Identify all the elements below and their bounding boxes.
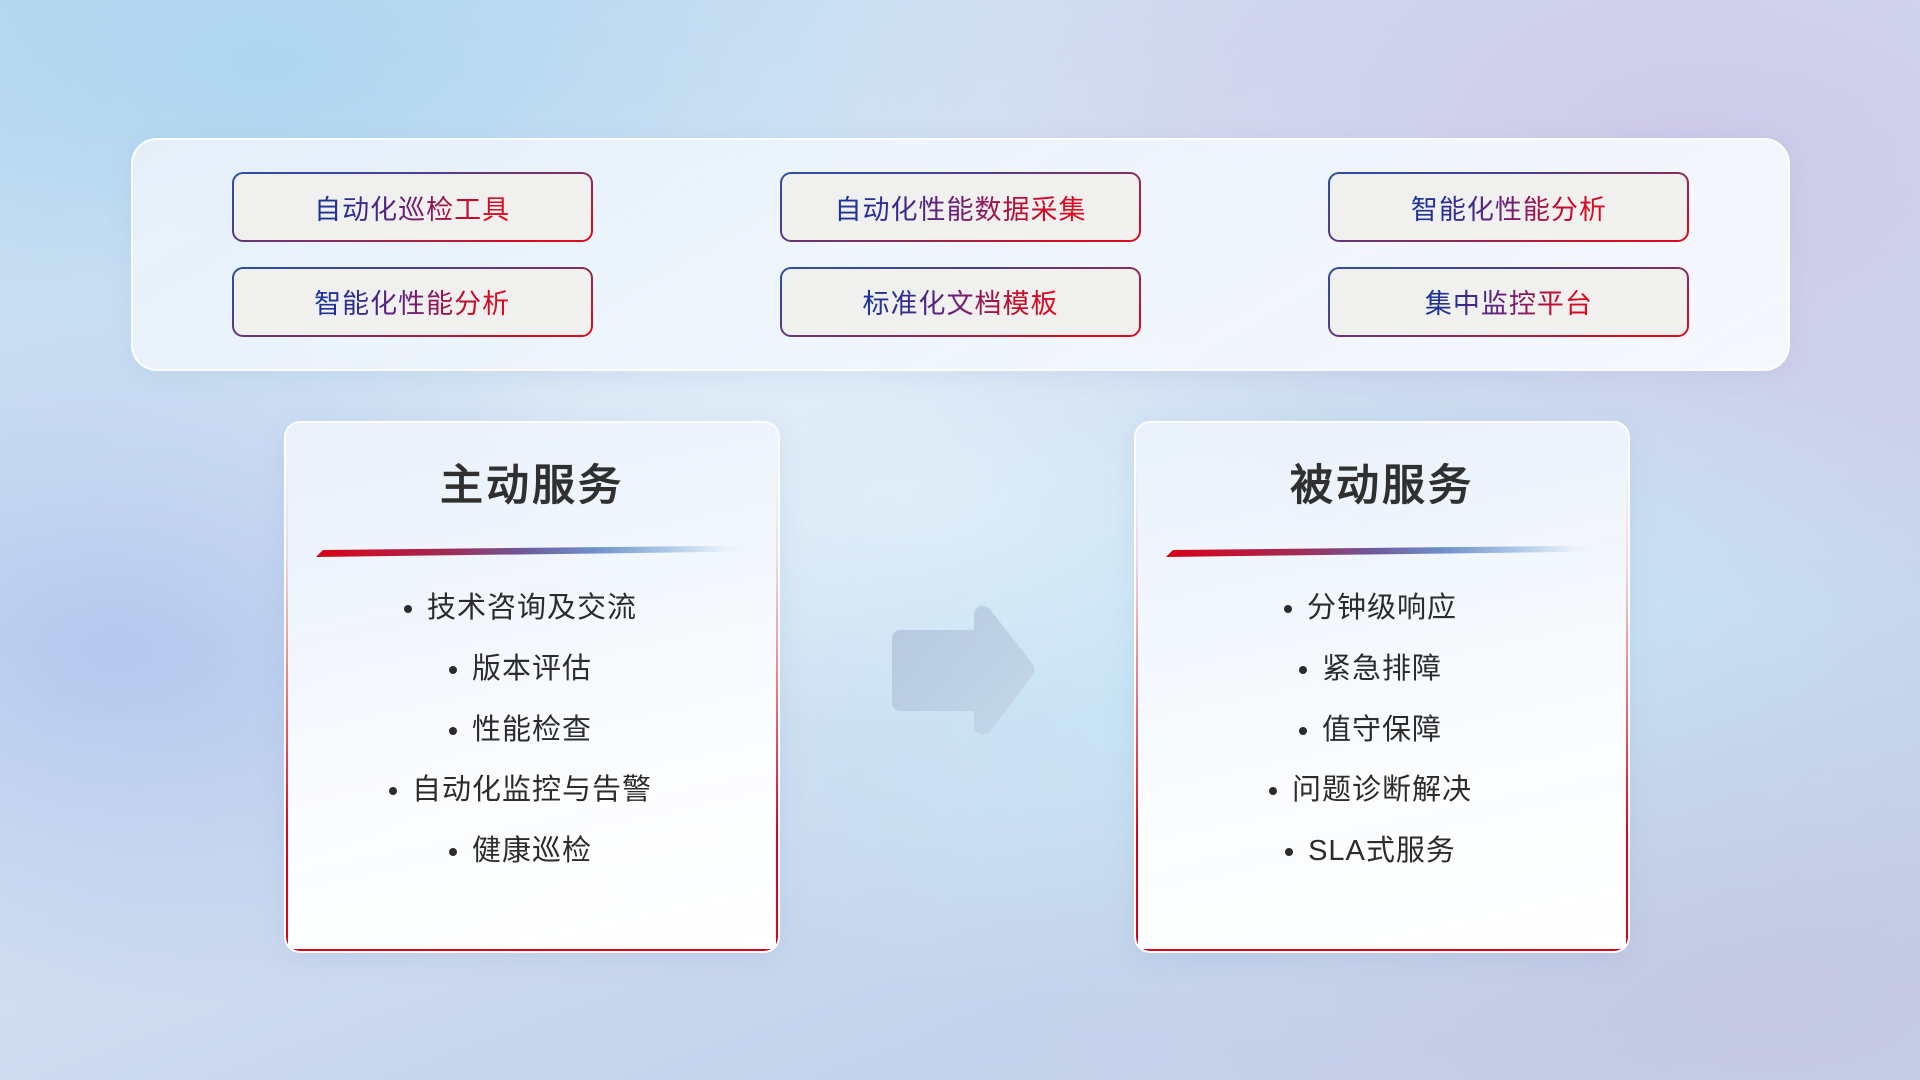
capability-panel: 自动化巡检工具 自动化性能数据采集 智能化性能分析 智能化性能分析 标准化文档模… [131, 138, 1790, 371]
capability-tag[interactable]: 智能化性能分析 [234, 269, 591, 335]
list-item: 版本评估 [472, 652, 592, 687]
capability-tag-label: 集中监控平台 [1425, 282, 1593, 321]
proactive-card-title: 主动服务 [286, 451, 778, 513]
capability-tag[interactable]: 集中监控平台 [1330, 269, 1687, 335]
list-item: 分钟级响应 [1307, 591, 1457, 626]
reactive-service-card: 被动服务 分钟级响应 紧急排障 值守保障 问题诊断解决 SLA式服务 [1134, 421, 1630, 953]
capability-tag-grid: 自动化巡检工具 自动化性能数据采集 智能化性能分析 智能化性能分析 标准化文档模… [133, 140, 1788, 369]
capability-tag-label: 智能化性能分析 [314, 282, 510, 321]
reactive-service-list: 分钟级响应 紧急排障 值守保障 问题诊断解决 SLA式服务 [1136, 591, 1628, 869]
card-divider [316, 544, 748, 557]
arrow-right-icon [882, 601, 1044, 743]
proactive-service-list: 技术咨询及交流 版本评估 性能检查 自动化监控与告警 健康巡检 [286, 591, 778, 869]
list-item: 值守保障 [1322, 713, 1442, 748]
reactive-card-title: 被动服务 [1136, 451, 1628, 513]
capability-tag[interactable]: 自动化巡检工具 [234, 174, 591, 240]
capability-tag-label: 自动化性能数据采集 [834, 188, 1086, 227]
capability-tag[interactable]: 智能化性能分析 [1330, 174, 1687, 240]
proactive-service-card: 主动服务 技术咨询及交流 版本评估 性能检查 自动化监控与告警 健康巡检 [284, 421, 780, 953]
card-divider-bar [1166, 544, 1598, 557]
list-item: 技术咨询及交流 [427, 591, 637, 626]
capability-tag-label: 智能化性能分析 [1411, 188, 1607, 227]
capability-tag[interactable]: 标准化文档模板 [782, 269, 1139, 335]
card-divider [1166, 544, 1598, 557]
list-item: 健康巡检 [472, 834, 592, 869]
list-item: 性能检查 [472, 713, 592, 748]
list-item: 紧急排障 [1322, 652, 1442, 687]
capability-tag-label: 自动化巡检工具 [314, 188, 510, 227]
list-item: 自动化监控与告警 [412, 773, 652, 808]
list-item: SLA式服务 [1308, 834, 1456, 869]
capability-tag[interactable]: 自动化性能数据采集 [782, 174, 1139, 240]
slide-canvas: 自动化巡检工具 自动化性能数据采集 智能化性能分析 智能化性能分析 标准化文档模… [0, 0, 1920, 1080]
card-divider-bar [316, 544, 748, 557]
capability-tag-label: 标准化文档模板 [862, 282, 1058, 321]
list-item: 问题诊断解决 [1292, 773, 1472, 808]
